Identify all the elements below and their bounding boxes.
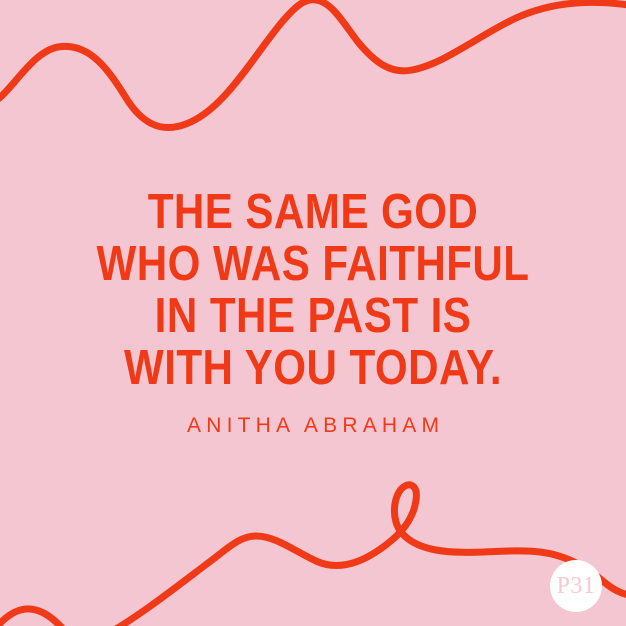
quote-line-3: IN THE PAST IS <box>44 290 582 342</box>
p31-logo-text: P31 <box>557 574 596 598</box>
quote-text: THE SAME GOD WHO WAS FAITHFUL IN THE PAS… <box>0 186 626 394</box>
quote-line-2: WHO WAS FAITHFUL <box>44 238 582 290</box>
content-layer: THE SAME GOD WHO WAS FAITHFUL IN THE PAS… <box>0 0 626 626</box>
quote-line-4: WITH YOU TODAY. <box>44 342 582 394</box>
p31-logo-badge: P31 <box>550 560 602 612</box>
quote-attribution: ANITHA ABRAHAM <box>0 414 626 438</box>
quote-card: THE SAME GOD WHO WAS FAITHFUL IN THE PAS… <box>0 0 626 626</box>
quote-line-1: THE SAME GOD <box>44 186 582 238</box>
